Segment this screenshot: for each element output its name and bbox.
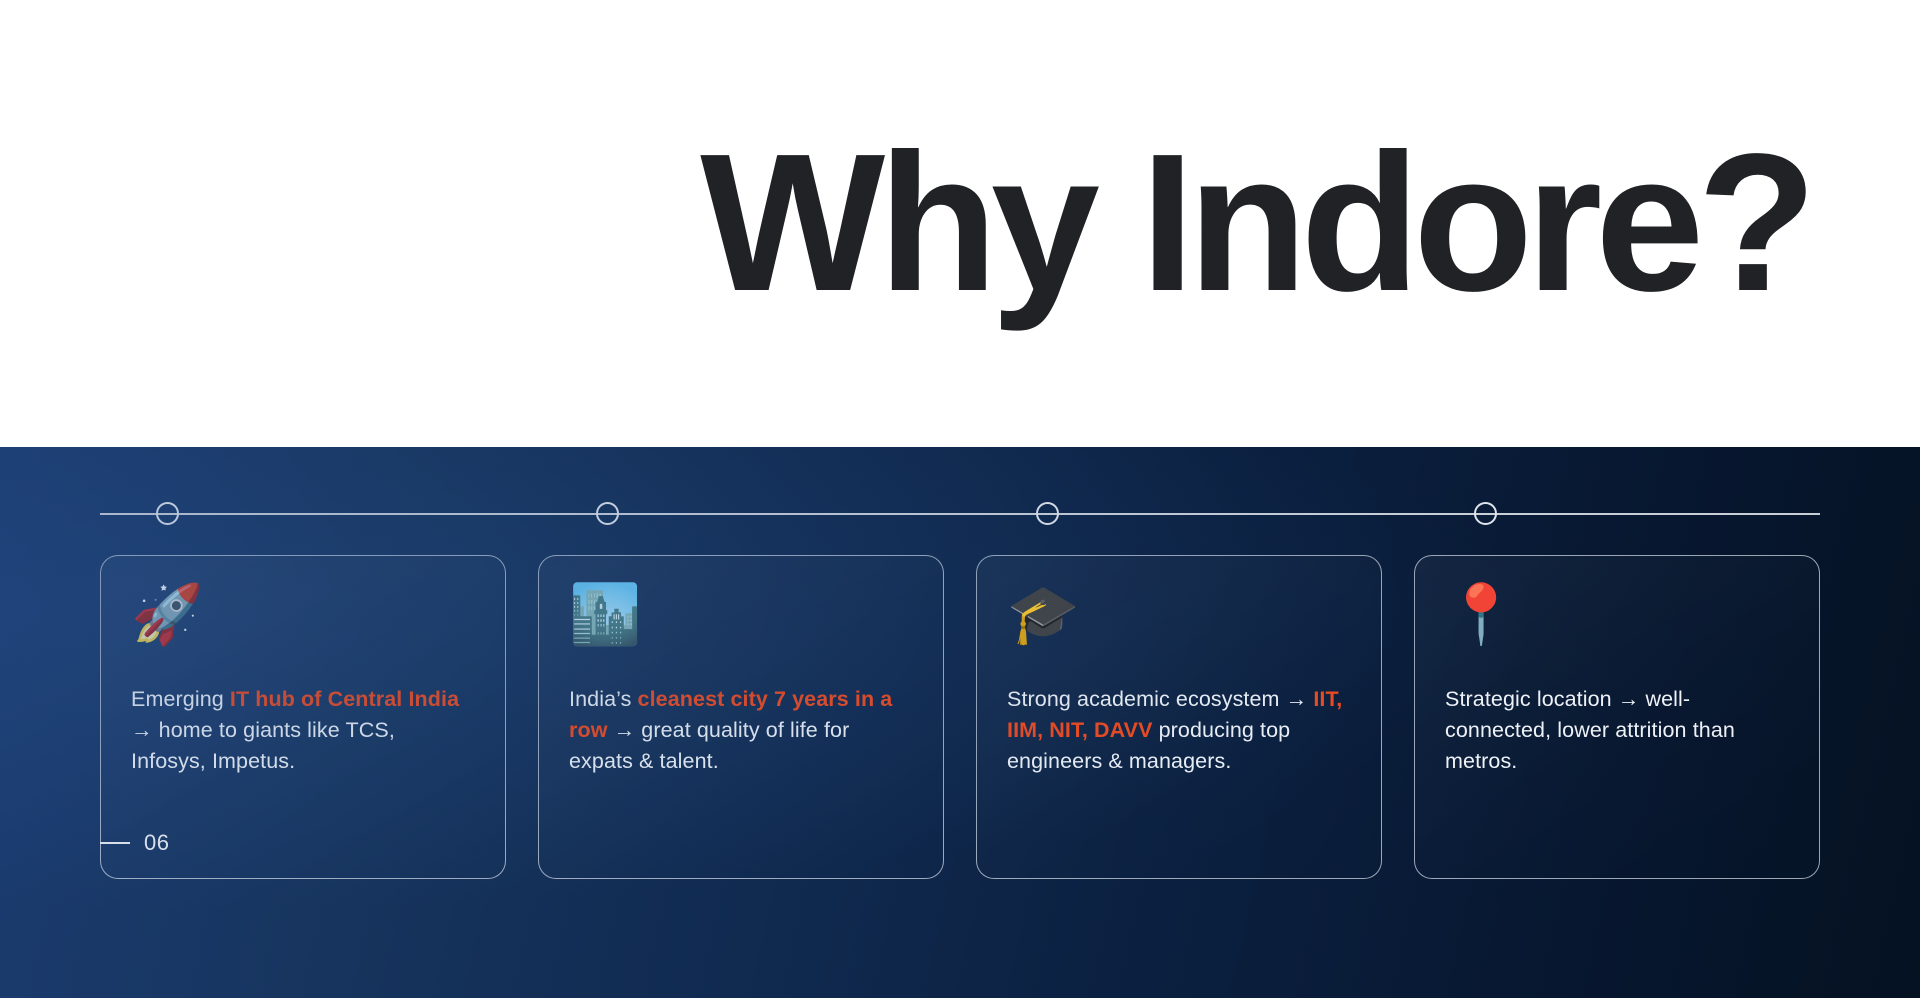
content-panel: 🚀 Emerging IT hub of Central India → hom… — [0, 447, 1920, 998]
slide-root: Why Indore? 🚀 Emerging IT hub of Central… — [0, 0, 1920, 998]
timeline-node-1[interactable] — [156, 502, 179, 525]
card-academic-ecosystem[interactable]: 🎓 Strong academic ecosystem → IIT, IIM, … — [976, 555, 1382, 879]
card-strategic-location[interactable]: 📍 Strategic location → well-connected, l… — [1414, 555, 1820, 879]
card-text: India’s cleanest city 7 years in a row →… — [569, 684, 913, 778]
card-text-before: India’s — [569, 687, 638, 711]
rocket-icon: 🚀 — [131, 586, 475, 672]
card-text: Strategic location → well-connected, low… — [1445, 684, 1789, 778]
card-highlight: IT hub of Central India — [230, 687, 459, 711]
card-text-before: Emerging — [131, 687, 230, 711]
timeline-line — [100, 513, 1820, 515]
timeline-node-4[interactable] — [1474, 502, 1497, 525]
timeline — [100, 502, 1820, 526]
page-number-dash — [100, 842, 130, 844]
timeline-node-2[interactable] — [596, 502, 619, 525]
card-text: Strong academic ecosystem → IIT, IIM, NI… — [1007, 684, 1351, 778]
card-text-after: → great quality of life for expats & tal… — [569, 718, 849, 773]
round-pushpin-icon: 📍 — [1445, 586, 1789, 672]
page-number-value: 06 — [144, 830, 169, 856]
card-text-before: Strategic location → well-connected, low… — [1445, 687, 1735, 773]
card-list: 🚀 Emerging IT hub of Central India → hom… — [100, 555, 1820, 775]
cityscape-icon: 🏙️ — [569, 586, 913, 672]
card-text-before: Strong academic ecosystem → — [1007, 687, 1313, 711]
hero-section: Why Indore? — [0, 0, 1920, 447]
graduation-cap-icon: 🎓 — [1007, 586, 1351, 672]
card-cleanest-city[interactable]: 🏙️ India’s cleanest city 7 years in a ro… — [538, 555, 944, 879]
page-title: Why Indore? — [700, 127, 1920, 319]
card-text: Emerging IT hub of Central India → home … — [131, 684, 475, 778]
timeline-node-3[interactable] — [1036, 502, 1059, 525]
page-number: 06 — [100, 830, 169, 856]
card-text-after: → home to giants like TCS, Infosys, Impe… — [131, 718, 395, 773]
